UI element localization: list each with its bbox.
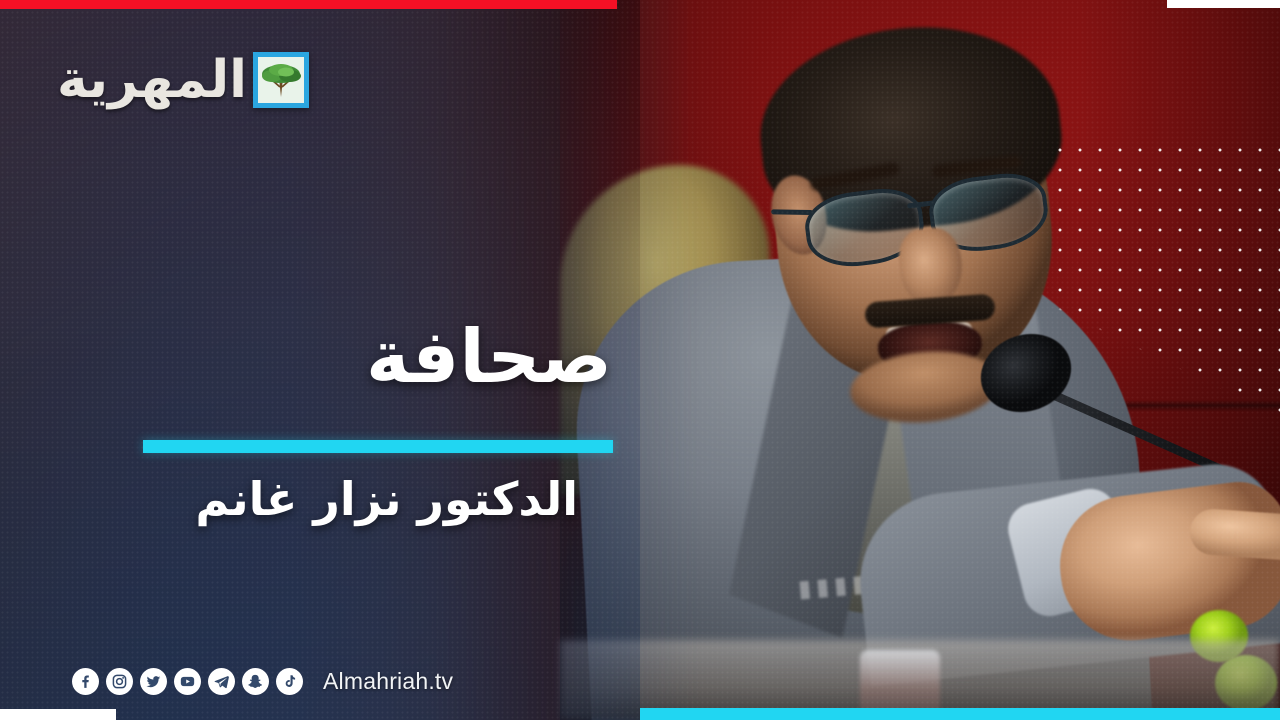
accent-bar-top-right <box>1167 0 1280 8</box>
title-block: صحافة <box>0 318 612 398</box>
tiktok-icon[interactable] <box>276 668 303 695</box>
accent-bar-bottom-right <box>640 708 1280 720</box>
page-title: صحافة <box>0 318 612 398</box>
telegram-icon[interactable] <box>208 668 235 695</box>
channel-logo[interactable]: المهرية <box>57 52 309 108</box>
youtube-icon[interactable] <box>174 668 201 695</box>
tree-in-square-icon <box>253 52 309 108</box>
twitter-icon[interactable] <box>140 668 167 695</box>
accent-bar-top-left <box>0 0 617 9</box>
snapchat-icon[interactable] <box>242 668 269 695</box>
logo-wordmark: المهرية <box>57 54 247 106</box>
title-divider <box>143 440 613 453</box>
accent-bar-bottom-left <box>0 709 116 720</box>
channel-handle: Almahriah.tv <box>323 668 453 695</box>
facebook-icon[interactable] <box>72 668 99 695</box>
instagram-icon[interactable] <box>106 668 133 695</box>
subtitle: الدكتور نزار غانم <box>0 472 578 527</box>
broadcast-thumbnail: المهرية صحافة الدكتور نزار غانم <box>0 0 1280 720</box>
glasses-temple <box>771 209 813 215</box>
social-bar: Almahriah.tv <box>72 668 453 695</box>
